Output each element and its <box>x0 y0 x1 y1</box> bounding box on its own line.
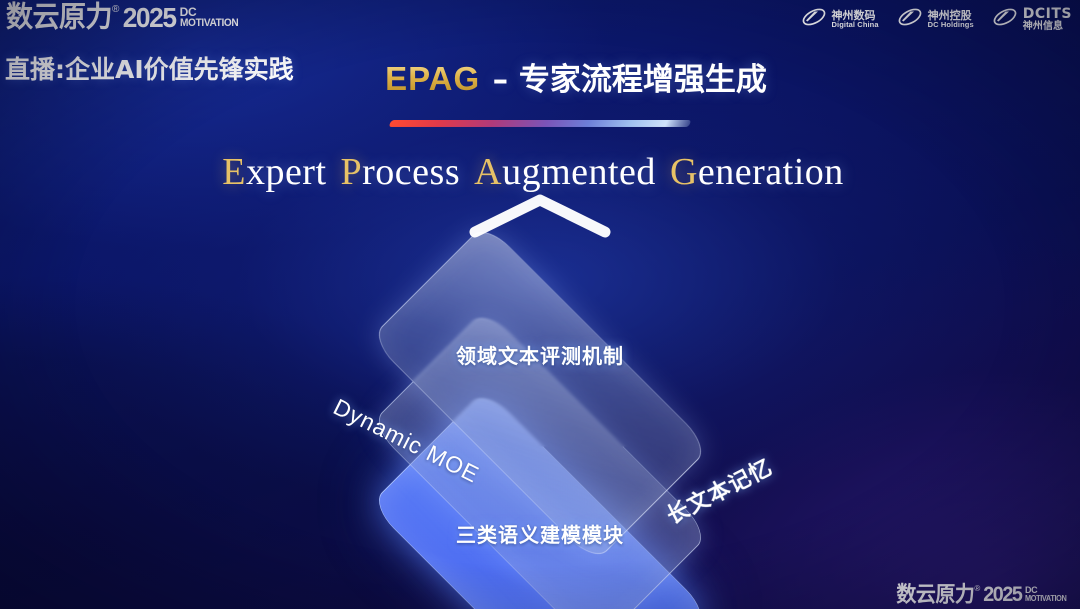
stack-label-bottom: 三类语义建模模块 <box>456 519 624 548</box>
subtitle-word-process: Process <box>341 151 461 193</box>
footer-watermark-logo: 数云原力 ® 2025 DC MOTIVATION <box>896 584 1070 605</box>
subtitle-initial: P <box>341 151 363 193</box>
partner-logo-group: 神州数码 Digital China 神州控股 DC Holdings <box>801 6 1073 33</box>
subtitle-word-rest: rocess <box>362 151 460 193</box>
slide-subtitle-en: ExpertProcessAugmentedGeneration <box>0 150 1080 194</box>
watermark-motivation-text: MOTIVATION <box>1025 595 1066 603</box>
watermark-registered-mark: ® <box>974 584 980 593</box>
subtitle-word-generation: Generation <box>670 151 844 193</box>
subtitle-word-rest: ugmented <box>502 151 656 193</box>
brand-dc-motivation: DC MOTIVATION <box>180 6 243 29</box>
swoosh-icon <box>801 6 827 33</box>
partner-label: DCITS 神州信息 <box>1023 7 1072 32</box>
layer-stack-diagram: 领域文本评测机制 Dynamic MOE 长文本记忆 三类语义建模模块 <box>280 232 800 572</box>
subtitle-word-rest: eneration <box>698 151 844 193</box>
subtitle-initial: G <box>670 151 698 193</box>
partner-name-en: 神州信息 <box>1023 22 1072 33</box>
partner-logo-dcits: DCITS 神州信息 <box>992 6 1072 33</box>
partner-name-cn: DCITS <box>1023 7 1072 22</box>
live-session-title: 直播:企业AI价值先锋实践 <box>5 50 294 86</box>
partner-logo-digital-china: 神州数码 Digital China <box>801 6 879 33</box>
partner-label: 神州数码 Digital China <box>832 10 879 29</box>
subtitle-word-augmented: Augmented <box>474 151 656 193</box>
partner-name-en: DC Holdings <box>928 21 974 29</box>
subtitle-initial: A <box>474 151 502 193</box>
swoosh-icon <box>992 6 1018 33</box>
slide-title-wrap: EPAG – 专家流程增强生成 <box>385 54 767 99</box>
watermark-dc-motivation: DC MOTIVATION <box>1025 586 1070 603</box>
partner-logo-dc-holdings: 神州控股 DC Holdings <box>897 6 974 33</box>
swoosh-icon <box>897 6 923 33</box>
partner-name-en: Digital China <box>832 21 879 29</box>
gradient-divider <box>389 120 692 127</box>
brand-motivation-text: MOTIVATION <box>180 18 238 29</box>
slide-title-acronym: EPAG <box>385 60 480 97</box>
stack-label-top: 领域文本评测机制 <box>456 340 624 369</box>
brand-name-cn: 数云原力 <box>6 3 112 32</box>
watermark-name-cn: 数云原力 <box>896 583 974 605</box>
slide-title-subtitle-cn: – 专家流程增强生成 <box>493 62 767 98</box>
subtitle-initial: E <box>222 151 246 193</box>
stack-plate-top-surface <box>370 223 711 564</box>
slide-canvas: 数云原力 ® 2025 DC MOTIVATION 直播:企业AI价值先锋实践 … <box>0 0 1080 609</box>
brand-year: 2025 <box>123 4 176 32</box>
partner-label: 神州控股 DC Holdings <box>928 10 974 29</box>
brand-registered-mark: ® <box>112 4 119 15</box>
watermark-year: 2025 <box>983 584 1021 605</box>
subtitle-word-rest: xpert <box>246 151 327 193</box>
subtitle-word-expert: Expert <box>222 151 326 193</box>
brand-logo: 数云原力 ® 2025 DC MOTIVATION <box>6 4 243 32</box>
chevron-up-icon <box>465 188 615 247</box>
